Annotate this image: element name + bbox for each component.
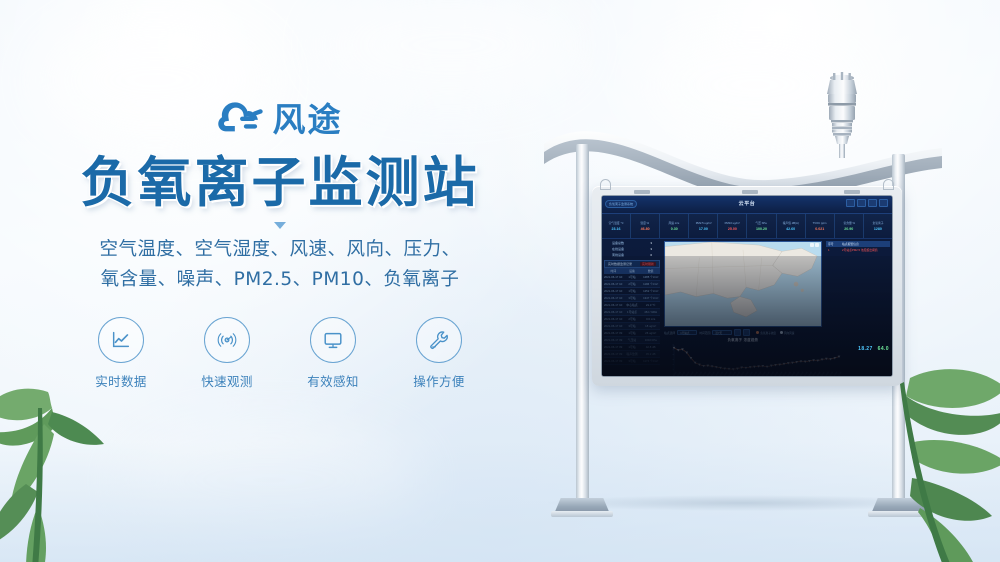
metric-label: TVOC ppm (813, 221, 827, 225)
decorative-plant-right (880, 358, 1000, 562)
decorative-plant-left (0, 368, 161, 562)
brand-name: 风途 (273, 103, 343, 136)
metric-value: 46.80 (641, 227, 650, 231)
zoom-in-icon[interactable] (810, 243, 814, 247)
metric-card[interactable]: 噪声值 dB(A)42.60 (777, 214, 806, 238)
metric-value: 0.30 (671, 227, 678, 231)
fengtu-cloud-wind-logo-icon (218, 101, 264, 137)
metric-card[interactable]: 风速 m/s0.30 (660, 214, 689, 238)
metric-label: 负氧离子 (872, 221, 883, 225)
stat-value: 3 (650, 247, 652, 251)
metric-value: 17.00 (699, 227, 708, 231)
cloud-blob (120, 420, 420, 540)
alarm-cell: 2号站点 (842, 248, 852, 252)
toolbar-icon[interactable] (846, 199, 855, 207)
feature-icon-circle (416, 317, 462, 363)
metric-card[interactable]: PM10 ug/m³25.00 (718, 214, 747, 238)
metric-value: 0.021 (815, 227, 824, 231)
subtitle-line-1: 空气温度、空气湿度、风速、风向、压力、 (0, 235, 560, 265)
metric-card[interactable]: 湿度 %46.80 (631, 214, 660, 238)
zoom-out-icon[interactable] (815, 243, 819, 247)
dashboard-header: 负氧离子监测系统 云平台 (602, 196, 892, 214)
poster-canvas: 风途 负氧离子监测站 空气温度、空气湿度、风速、风向、压力、 氧含量、噪声、PM… (0, 0, 1000, 562)
device-stat-row: 在线设备3 (604, 247, 660, 251)
metric-label: PM10 ug/m³ (725, 221, 740, 225)
metric-label: 风速 m/s (669, 221, 680, 225)
metric-card-row: 空气温度 ℃23.16湿度 %46.80风速 m/s0.30PM2.5 ug/m… (602, 214, 892, 239)
metric-label: 噪声值 dB(A) (783, 221, 799, 225)
brand-logo: 风途 (0, 96, 560, 142)
metric-value: 100.20 (756, 227, 767, 231)
alarm-row[interactable]: 12号站点PM2.5 浓度超出阈值 (826, 247, 890, 253)
radar-signal-icon (216, 329, 238, 351)
page-title: 负氧离子监测站 (0, 154, 560, 212)
pole-base-plate-left (551, 511, 613, 517)
feature-label: 快速观测 (189, 371, 265, 390)
title-divider-triangle-icon (274, 222, 286, 229)
stat-label: 设备总数 (612, 241, 624, 245)
dashboard-right-panel: 序号站点报警信息 12号站点PM2.5 浓度超出阈值 18.27 64.0 (824, 239, 892, 376)
map-zoom-controls[interactable] (810, 243, 819, 247)
panel-fade (602, 256, 892, 376)
toolbar-icon[interactable] (879, 199, 888, 207)
alarm-column-header: 序号 (828, 242, 842, 246)
stat-value: 3 (650, 241, 652, 245)
led-display-screen[interactable]: 负氧离子监测系统 云平台 空气温度 ℃23.16湿度 %46.80风速 m/s0… (601, 195, 893, 377)
feature-item-fast-observation[interactable]: 快速观测 (189, 317, 265, 390)
metric-card[interactable]: 氧含量 %20.90 (835, 214, 864, 238)
line-chart-icon (110, 329, 132, 351)
metric-card[interactable]: 负氧离子1280 (864, 214, 892, 238)
metric-label: PM2.5 ug/m³ (695, 221, 711, 225)
feature-item-effective-sensing[interactable]: 有效感知 (295, 317, 371, 390)
dashboard-body: 设备总数3在线设备3离线设备0 实时数据监测记录 实时刷新 时间设备数值 202… (602, 239, 892, 376)
subtitle-line-2: 氧含量、噪声、PM2.5、PM10、负氧离子 (0, 265, 560, 295)
metric-label: 气压 hPa (756, 221, 767, 225)
monitor-icon (322, 329, 344, 351)
cabinet-hanger-right (883, 179, 894, 190)
toolbar-icon[interactable] (868, 199, 877, 207)
toolbar-icon[interactable] (857, 199, 866, 207)
ultrasonic-weather-sensor-icon (819, 70, 865, 162)
metric-value: 23.16 (612, 227, 621, 231)
cabinet-tab (634, 190, 650, 194)
feature-item-easy-operation[interactable]: 操作方便 (401, 317, 477, 390)
cloud-platform-dashboard: 负氧离子监测系统 云平台 空气温度 ℃23.16湿度 %46.80风速 m/s0… (602, 196, 892, 376)
cabinet-tab (742, 190, 758, 194)
highlight-value-2: 64.0 (878, 346, 889, 352)
metric-label: 空气温度 ℃ (609, 221, 624, 225)
dashboard-toolbar[interactable] (846, 199, 888, 207)
feature-label: 有效感知 (295, 371, 371, 390)
display-cabinet: 负氧离子监测系统 云平台 空气温度 ℃23.16湿度 %46.80风速 m/s0… (592, 186, 902, 386)
metric-label: 氧含量 % (843, 221, 855, 225)
device-stat-list: 设备总数3在线设备3离线设备0 (604, 241, 660, 257)
metric-card[interactable]: PM2.5 ug/m³17.00 (689, 214, 718, 238)
metric-value: 1280 (874, 227, 882, 231)
metric-card[interactable]: TVOC ppm0.021 (806, 214, 835, 238)
cabinet-hanger-left (600, 179, 611, 190)
metric-value: 42.60 (786, 227, 795, 231)
alarm-cell: 1 (828, 248, 842, 252)
metric-card[interactable]: 气压 hPa100.20 (747, 214, 776, 238)
metric-value: 25.00 (728, 227, 737, 231)
highlight-value-1: 18.27 (858, 346, 873, 352)
metric-value: 20.90 (844, 227, 853, 231)
feature-icon-circle (310, 317, 356, 363)
metric-label: 湿度 % (641, 221, 650, 225)
alarm-table-body: 12号站点PM2.5 浓度超出阈值 (826, 247, 890, 253)
alarm-column-header: 报警信息 (848, 242, 859, 246)
feature-icon-circle (204, 317, 250, 363)
device-stat-row: 设备总数3 (604, 241, 660, 245)
wrench-icon (428, 329, 450, 351)
feature-label: 操作方便 (401, 371, 477, 390)
highlight-values: 18.27 64.0 (858, 346, 889, 352)
cabinet-tab (844, 190, 860, 194)
support-pole-left (576, 144, 589, 504)
metric-card[interactable]: 空气温度 ℃23.16 (602, 214, 631, 238)
marketing-text-block: 风途 负氧离子监测站 空气温度、空气湿度、风速、风向、压力、 氧含量、噪声、PM… (0, 96, 560, 390)
alarm-cell: PM2.5 浓度超出阈值 (852, 248, 878, 252)
stat-label: 在线设备 (612, 247, 624, 251)
feature-icon-circle (98, 317, 144, 363)
